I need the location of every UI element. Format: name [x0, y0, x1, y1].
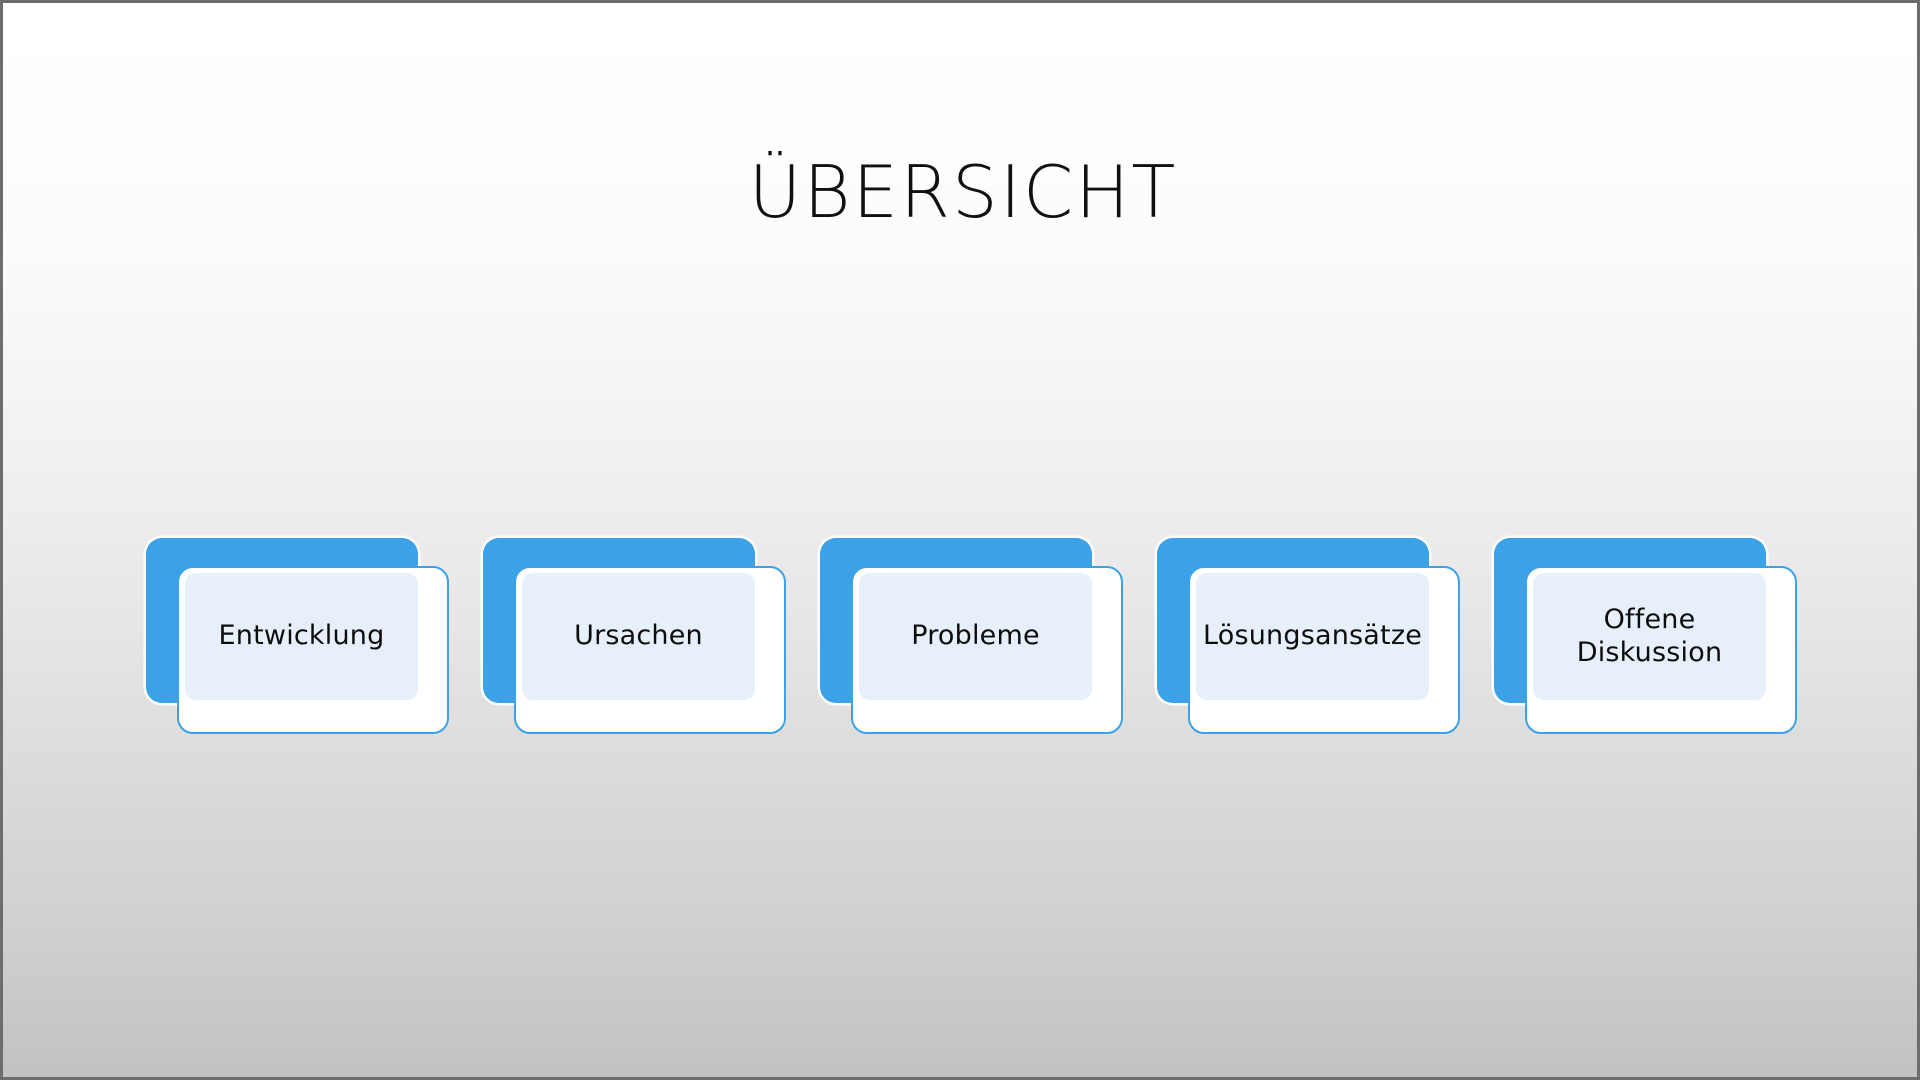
overview-card[interactable]: Probleme [820, 538, 1092, 738]
card-front-plate: Probleme [851, 566, 1123, 734]
card-inner-panel: Entwicklung [185, 573, 418, 700]
card-inner-panel: Offene Diskussion [1533, 573, 1766, 700]
overview-card[interactable]: Offene Diskussion [1494, 538, 1766, 738]
card-front-plate: Lösungsansätze [1188, 566, 1460, 734]
overview-card[interactable]: Lösungsansätze [1157, 538, 1429, 738]
card-label: Lösungsansätze [1199, 620, 1426, 653]
card-label: Ursachen [570, 620, 707, 653]
card-front-plate: Entwicklung [177, 566, 449, 734]
card-front-plate: Ursachen [514, 566, 786, 734]
card-inner-panel: Probleme [859, 573, 1092, 700]
card-label: Probleme [907, 620, 1044, 653]
card-front-plate: Offene Diskussion [1525, 566, 1797, 734]
overview-card[interactable]: Entwicklung [146, 538, 418, 738]
card-inner-panel: Ursachen [522, 573, 755, 700]
card-label: Offene Diskussion [1573, 604, 1727, 670]
overview-card-row: Entwicklung Ursachen Probleme [146, 538, 1786, 748]
overview-card[interactable]: Ursachen [483, 538, 755, 738]
card-inner-panel: Lösungsansätze [1196, 573, 1429, 700]
page-title: ÜBERSICHT [3, 153, 1920, 232]
card-label: Entwicklung [215, 620, 389, 653]
presentation-slide: ÜBERSICHT Entwicklung Ursachen Proble [0, 0, 1920, 1080]
